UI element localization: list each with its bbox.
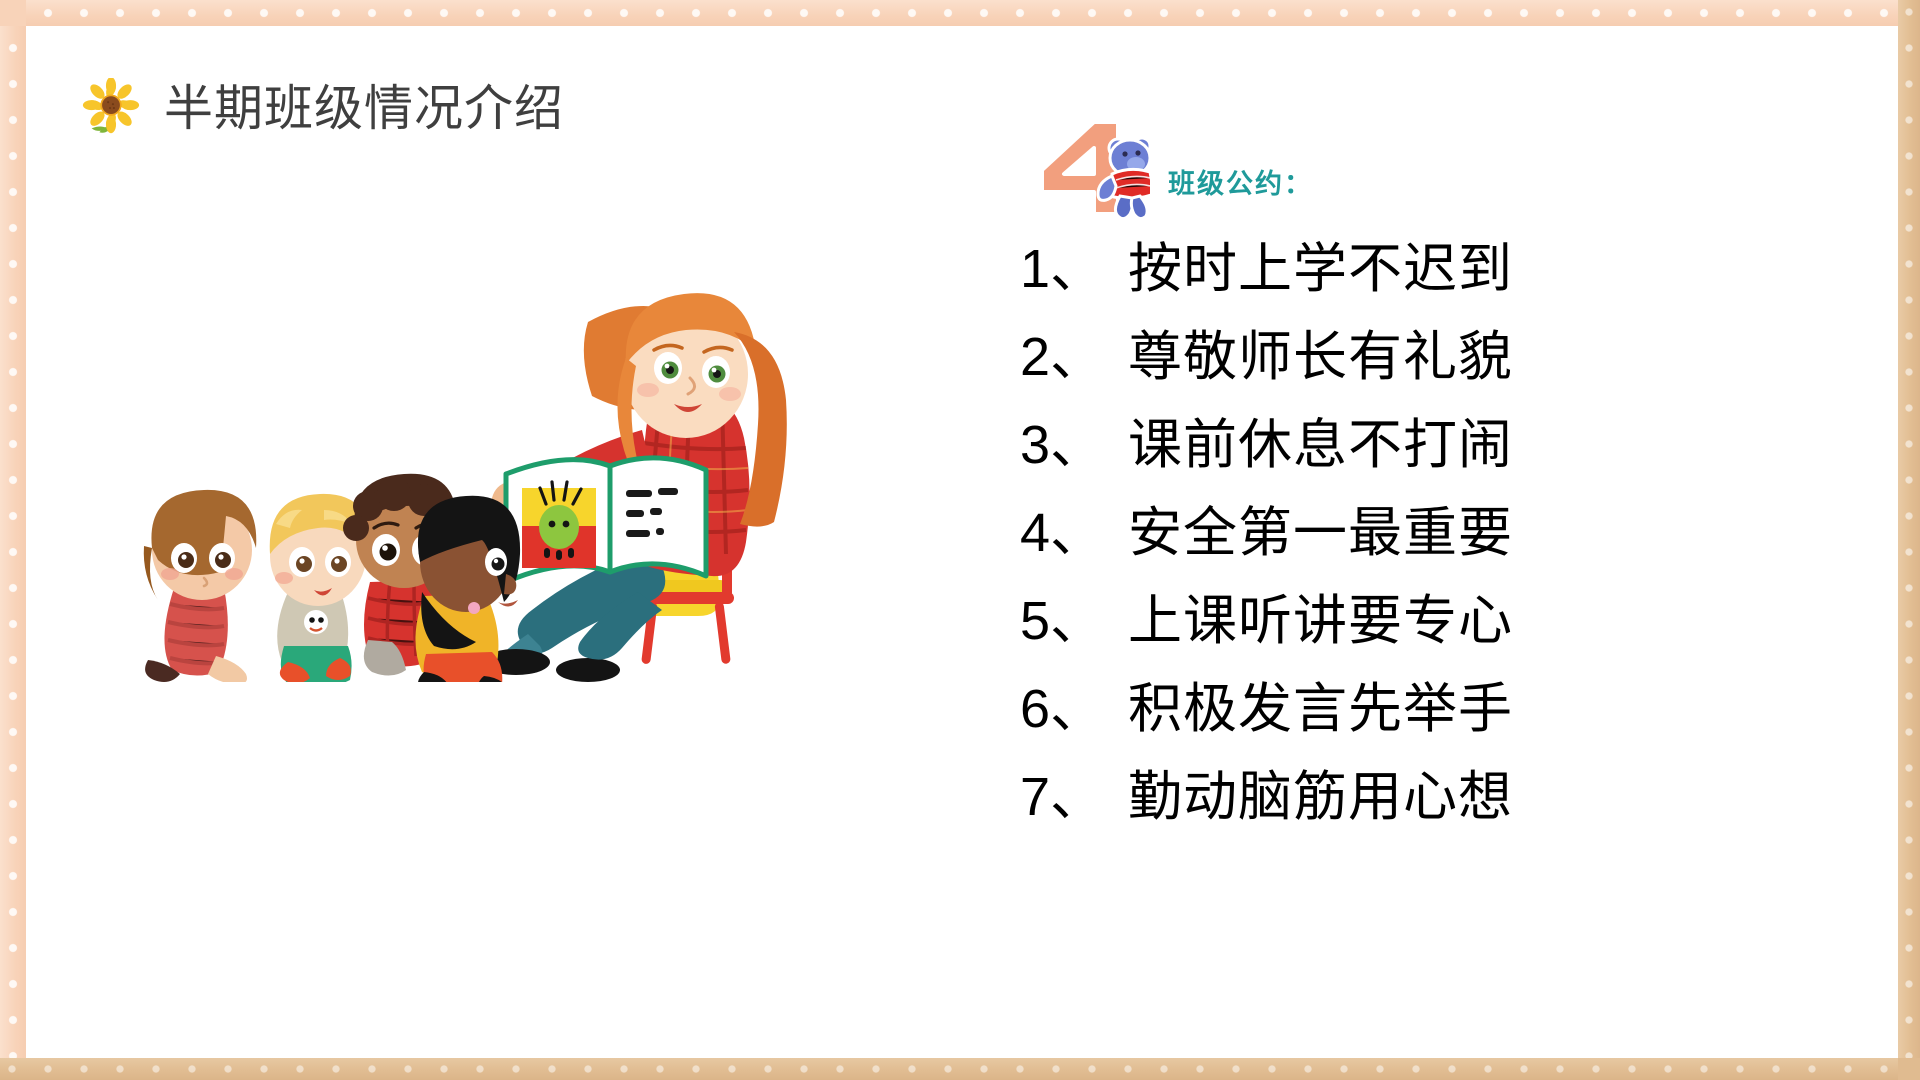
frame-band-top bbox=[0, 0, 1920, 26]
list-item: 3、 课前休息不打闹 bbox=[1020, 418, 1780, 472]
picture-book bbox=[506, 458, 706, 582]
list-item: 4、 安全第一最重要 bbox=[1020, 506, 1780, 560]
rule-text: 课前休息不打闹 bbox=[1128, 418, 1513, 472]
rule-text: 积极发言先举手 bbox=[1128, 682, 1513, 736]
frame-band-right bbox=[1898, 0, 1920, 1080]
rule-index: 6、 bbox=[1020, 682, 1128, 736]
list-item: 5、 上课听讲要专心 bbox=[1020, 594, 1780, 648]
sunflower-icon bbox=[80, 78, 142, 140]
list-item: 2、 尊敬师长有礼貌 bbox=[1020, 330, 1780, 384]
slide-title-row: 半期班级情况介绍 bbox=[80, 78, 564, 140]
list-item: 7、 勤动脑筋用心想 bbox=[1020, 770, 1780, 824]
teacher-reading-to-children-illustration bbox=[118, 262, 818, 682]
slide-canvas: 半期班级情况介绍 bbox=[0, 0, 1920, 1080]
list-item: 6、 积极发言先举手 bbox=[1020, 682, 1780, 736]
frame-corner-bottom-right bbox=[1898, 1058, 1920, 1080]
class-rules-header: 班级公约： bbox=[1020, 120, 1780, 224]
child-brown-bob bbox=[144, 490, 256, 682]
section-number-four-badge bbox=[1032, 116, 1150, 220]
class-rules-panel: 班级公约： 1、 按时上学不迟到 2、 尊敬师长有礼貌 3、 课前休息不打闹 4… bbox=[1020, 120, 1780, 858]
list-item: 1、 按时上学不迟到 bbox=[1020, 242, 1780, 296]
rule-index: 1、 bbox=[1020, 242, 1128, 296]
frame-band-left bbox=[0, 0, 26, 1080]
frame-corner-top-left bbox=[0, 0, 26, 26]
rule-index: 4、 bbox=[1020, 506, 1128, 560]
rule-text: 按时上学不迟到 bbox=[1128, 242, 1513, 296]
rule-text: 安全第一最重要 bbox=[1128, 506, 1513, 560]
rule-text: 勤动脑筋用心想 bbox=[1128, 770, 1513, 824]
rule-index: 2、 bbox=[1020, 330, 1128, 384]
rule-index: 3、 bbox=[1020, 418, 1128, 472]
rule-text: 尊敬师长有礼貌 bbox=[1128, 330, 1513, 384]
class-rules-list: 1、 按时上学不迟到 2、 尊敬师长有礼貌 3、 课前休息不打闹 4、 安全第一… bbox=[1020, 242, 1780, 824]
rule-index: 7、 bbox=[1020, 770, 1128, 824]
rule-index: 5、 bbox=[1020, 594, 1128, 648]
rule-text: 上课听讲要专心 bbox=[1128, 594, 1513, 648]
class-rules-heading: 班级公约： bbox=[1168, 162, 1313, 201]
frame-band-bottom bbox=[0, 1058, 1920, 1080]
page-title: 半期班级情况介绍 bbox=[164, 85, 564, 134]
